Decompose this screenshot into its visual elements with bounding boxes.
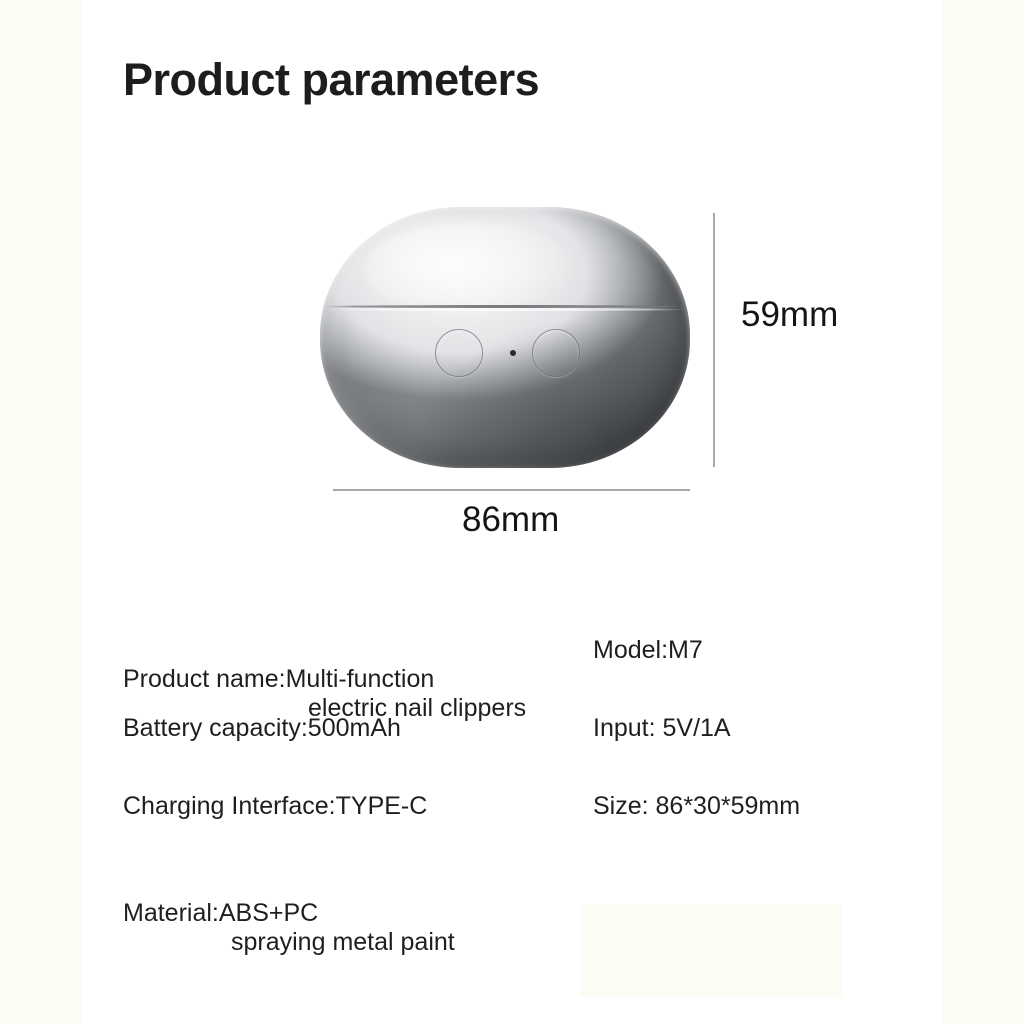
spec-model: Model:M7: [593, 636, 883, 665]
button-ring-right-icon: [532, 329, 580, 377]
spec-material-line1: Material:ABS+PC: [123, 899, 318, 927]
spec-row: Product name:Multi-function electric nai…: [123, 636, 883, 714]
product-parameters-page: Product parameters 59mm 86mm Product nam…: [0, 0, 1024, 1024]
product-image: [300, 190, 740, 510]
spec-material: Material:ABS+PC spraying metal paint: [123, 870, 593, 986]
case-shadow-overlay: [320, 207, 690, 468]
led-indicator-dot: [510, 350, 516, 356]
page-title: Product parameters: [123, 54, 539, 106]
height-dimension-label: 59mm: [741, 295, 838, 335]
spec-input: Input: 5V/1A: [593, 714, 883, 743]
spec-list: Product name:Multi-function electric nai…: [123, 636, 883, 948]
left-background-band: [0, 0, 82, 1024]
spec-row: Battery capacity:500mAh Input: 5V/1A: [123, 714, 883, 792]
case-lid-seam-highlight: [322, 308, 688, 311]
product-case-body: [320, 207, 690, 468]
right-background-band: [942, 0, 1024, 1024]
spec-size: Size: 86*30*59mm: [593, 792, 883, 821]
spec-material-line2: spraying metal paint: [123, 928, 593, 957]
case-gloss-highlight: [364, 223, 579, 317]
spec-row: Charging Interface:TYPE-C Size: 86*30*59…: [123, 792, 883, 870]
button-ring-left-icon: [435, 329, 483, 377]
width-dimension-line: [333, 489, 690, 491]
spec-product-name-line1: Product name:Multi-function: [123, 665, 434, 693]
height-dimension-line: [713, 213, 715, 467]
spec-battery-capacity: Battery capacity:500mAh: [123, 714, 593, 743]
spec-charging-interface: Charging Interface:TYPE-C: [123, 792, 593, 821]
width-dimension-label: 86mm: [462, 500, 559, 540]
spec-row: Material:ABS+PC spraying metal paint: [123, 870, 883, 948]
